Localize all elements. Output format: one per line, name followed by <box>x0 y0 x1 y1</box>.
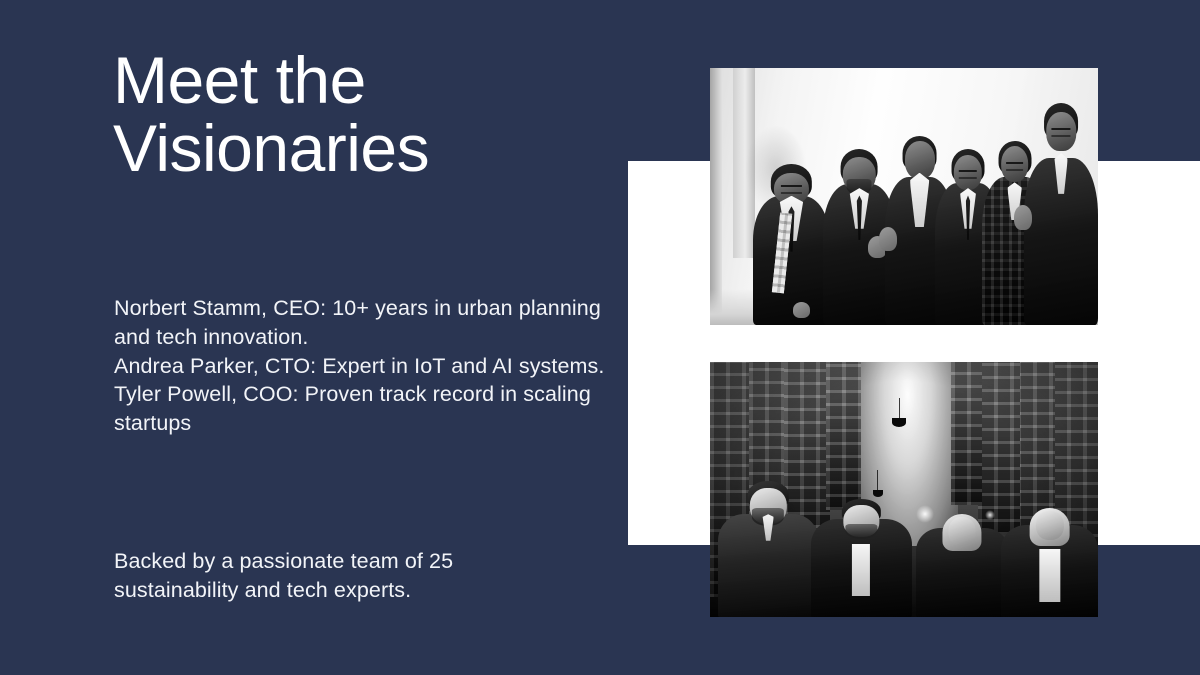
photo-person <box>1024 99 1098 325</box>
list-item: Andrea Parker, CTO: Expert in IoT and AI… <box>114 352 614 381</box>
photo-person <box>916 474 1009 617</box>
photo-wall-edge <box>710 68 722 325</box>
team-photo-bottom-image <box>710 362 1098 617</box>
slide: Meet the Visionaries Norbert Stamm, CEO:… <box>0 0 1200 675</box>
list-item: Tyler Powell, COO: Proven track record i… <box>114 380 614 438</box>
team-photo-bottom <box>710 362 1098 617</box>
photo-person <box>1001 469 1098 617</box>
team-bio-list: Norbert Stamm, CEO: 10+ years in urban p… <box>114 294 614 438</box>
photo-person <box>811 464 912 617</box>
team-photo-top-image <box>710 68 1098 325</box>
list-item: Norbert Stamm, CEO: 10+ years in urban p… <box>114 294 614 352</box>
photo-person <box>718 451 819 617</box>
photo-person <box>753 150 831 325</box>
page-title: Meet the Visionaries <box>113 47 633 183</box>
team-size-footnote: Backed by a passionate team of 25 sustai… <box>114 547 544 605</box>
team-photo-top <box>710 68 1098 325</box>
